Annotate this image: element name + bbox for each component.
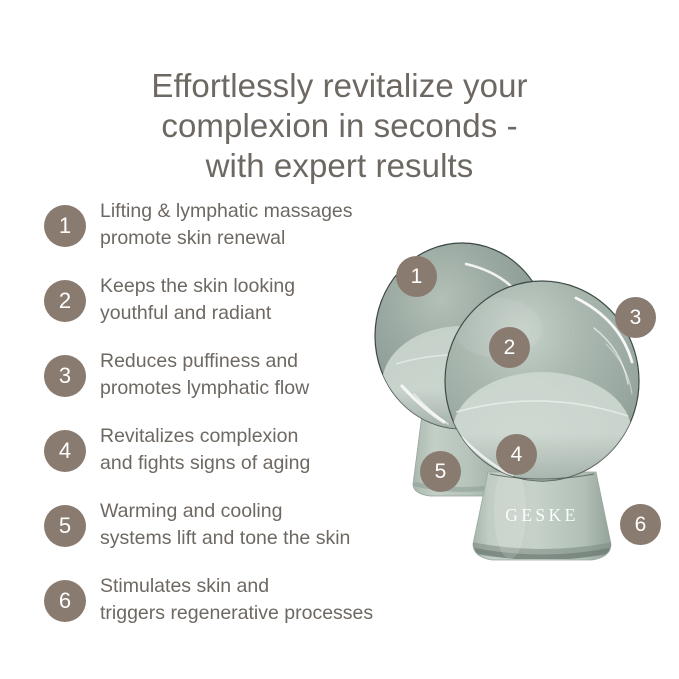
- benefit-number-badge-3: 3: [44, 355, 86, 397]
- benefit-text-6: Stimulates skin and triggers regenerativ…: [100, 573, 430, 627]
- benefits-list: 1 Lifting & lymphatic massages promote s…: [44, 198, 424, 648]
- product-callout-badge-2: 2: [489, 327, 530, 368]
- benefit-number-badge-4: 4: [44, 430, 86, 472]
- page-title: Effortlessly revitalize your complexion …: [0, 66, 679, 186]
- product-callout-badge-4: 4: [496, 434, 537, 475]
- benefit-number-badge-6: 6: [44, 580, 86, 622]
- product-callout-badge-6: 6: [620, 504, 661, 545]
- list-item: 3 Reduces puffiness and promotes lymphat…: [44, 348, 424, 423]
- product-callout-badge-1: 1: [396, 256, 437, 297]
- benefit-line-1a: Lifting & lymphatic massages: [100, 198, 430, 225]
- headline-line-3: with expert results: [0, 146, 679, 186]
- product-callout-badge-3: 3: [615, 297, 656, 338]
- product-callout-badge-5: 5: [420, 451, 461, 492]
- brand-wordmark: GESKE: [505, 505, 578, 525]
- list-item: 1 Lifting & lymphatic massages promote s…: [44, 198, 424, 273]
- benefit-number-badge-2: 2: [44, 280, 86, 322]
- benefit-line-6b: triggers regenerative processes: [100, 600, 430, 627]
- list-item: 6 Stimulates skin and triggers regenerat…: [44, 573, 424, 648]
- headline-line-1: Effortlessly revitalize your: [0, 66, 679, 106]
- front-massager: GESKE: [445, 281, 639, 560]
- benefit-number-badge-5: 5: [44, 505, 86, 547]
- headline-line-2: complexion in seconds -: [0, 106, 679, 146]
- list-item: 2 Keeps the skin looking youthful and ra…: [44, 273, 424, 348]
- benefit-line-6a: Stimulates skin and: [100, 573, 430, 600]
- benefit-number-badge-1: 1: [44, 205, 86, 247]
- list-item: 5 Warming and cooling systems lift and t…: [44, 498, 424, 573]
- list-item: 4 Revitalizes complexion and fights sign…: [44, 423, 424, 498]
